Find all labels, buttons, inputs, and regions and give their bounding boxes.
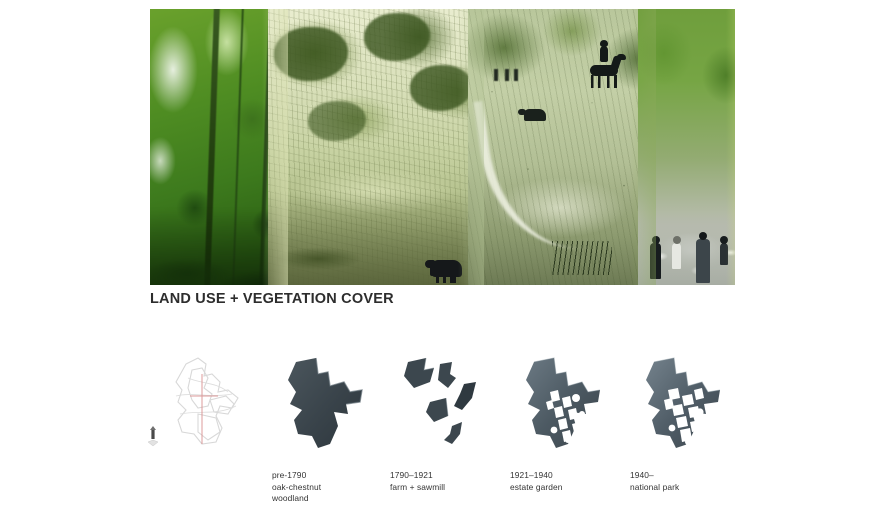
land-use-vegetation-collage bbox=[150, 9, 735, 285]
cow-silhouette bbox=[432, 260, 462, 277]
timeline-caption: pre-1790 oak-chestnut woodland bbox=[272, 470, 321, 505]
timeline-item-1940-present[interactable]: 1940– national park bbox=[622, 348, 738, 518]
timeline-caption: 1790–1921 farm + sawmill bbox=[390, 470, 445, 493]
hiker-figure bbox=[696, 239, 710, 283]
timeline-item-1790-1921[interactable]: 1790–1921 farm + sawmill bbox=[382, 348, 498, 518]
land-cover-map-1790-1921 bbox=[390, 348, 496, 458]
poster-board: LAND USE + VEGETATION COVER bbox=[0, 0, 882, 526]
timeline-caption: 1940– national park bbox=[630, 470, 679, 493]
horse-head bbox=[617, 54, 626, 60]
collage-panel-forest-photo bbox=[150, 9, 278, 285]
horse-legs bbox=[591, 75, 617, 88]
hiker-figure bbox=[650, 243, 661, 279]
reeds-texture bbox=[552, 241, 612, 275]
timeline-item-1921-1940[interactable]: 1921–1940 estate garden bbox=[502, 348, 618, 518]
cow-silhouette bbox=[524, 109, 546, 121]
land-cover-map-1921-1940 bbox=[510, 348, 616, 458]
hiker-figure bbox=[720, 243, 728, 265]
horse-rider-silhouette bbox=[588, 55, 624, 87]
hiker-figure bbox=[672, 243, 681, 269]
context-outline-map bbox=[158, 348, 264, 458]
land-cover-map-pre-1790 bbox=[272, 348, 378, 458]
timeline-item-context-map[interactable] bbox=[150, 348, 266, 518]
collage-panel-sepia-etching bbox=[268, 9, 478, 285]
collage-panel-hikers-photo bbox=[638, 9, 735, 285]
timeline-item-pre-1790[interactable]: pre-1790 oak-chestnut woodland bbox=[264, 348, 380, 518]
timeline-caption: 1921–1940 estate garden bbox=[510, 470, 563, 493]
land-cover-map-1940-present bbox=[630, 348, 736, 458]
rider-figure bbox=[600, 46, 608, 62]
distant-figures-silhouette bbox=[494, 69, 518, 81]
land-use-timeline: pre-1790 oak-chestnut woodland bbox=[150, 348, 750, 518]
page-title: LAND USE + VEGETATION COVER bbox=[150, 291, 394, 307]
